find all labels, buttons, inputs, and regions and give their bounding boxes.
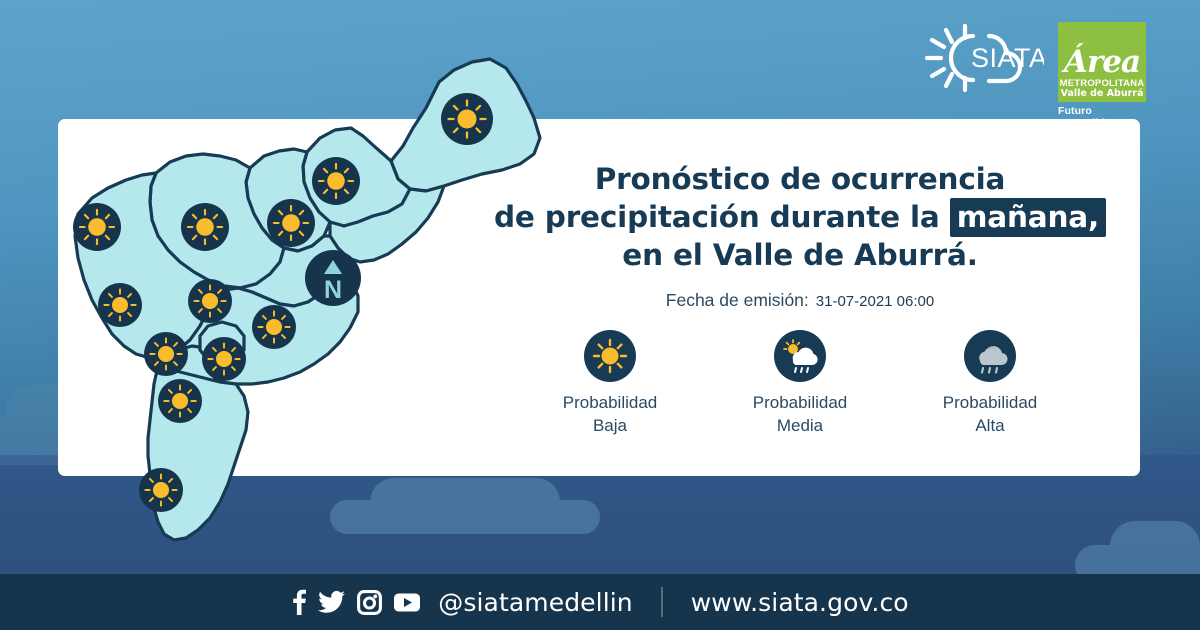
map-marker-sun	[181, 203, 229, 251]
youtube-icon[interactable]	[393, 592, 421, 613]
issue-date-label: Fecha de emisión:	[666, 290, 809, 311]
instagram-icon[interactable]	[357, 590, 382, 615]
siata-logo: SIATA	[919, 22, 1044, 94]
map-marker-sun	[98, 283, 142, 327]
footer-divider	[661, 587, 663, 617]
legend-label-media: Probabilidad Media	[753, 392, 848, 437]
title-line-2: de precipitación durante la mañana,	[470, 198, 1130, 236]
map-marker-sun	[73, 203, 121, 251]
map-marker-sun	[139, 468, 183, 512]
footer-bar: @siatamedellin www.siata.gov.co	[0, 574, 1200, 630]
siata-logo-icon: SIATA	[919, 22, 1044, 94]
map-marker-sun	[252, 305, 296, 349]
title-line-3: en el Valle de Aburrá.	[470, 236, 1130, 274]
legend-label-alta: Probabilidad Alta	[943, 392, 1038, 437]
legend-item-alta: Probabilidad Alta	[895, 330, 1085, 437]
legend-alta-line2: Alta	[943, 415, 1038, 438]
rain-cloud-icon	[964, 330, 1016, 382]
title-line-2-text: de precipitación durante la	[494, 200, 940, 234]
social-handle[interactable]: @siatamedellin	[438, 588, 632, 617]
siata-logo-text: SIATA	[971, 43, 1044, 73]
social-icon-group	[291, 588, 421, 616]
map-marker-sun	[267, 199, 315, 247]
map-marker-sun	[158, 379, 202, 423]
legend-media-line2: Media	[753, 415, 848, 438]
legend-item-baja: Probabilidad Baja	[515, 330, 705, 437]
website-url[interactable]: www.siata.gov.co	[691, 588, 909, 617]
sun-icon	[584, 330, 636, 382]
title-line-1: Pronóstico de ocurrencia	[470, 160, 1130, 198]
logo-group: SIATA Área METROPOLITANA Valle de Aburrá…	[919, 22, 1146, 129]
map-marker-sun	[188, 279, 232, 323]
map-marker-sun	[202, 337, 246, 381]
map-marker-sun	[441, 93, 493, 145]
issue-date-value: 31-07-2021 06:00	[816, 293, 934, 310]
map-marker-sun	[312, 157, 360, 205]
legend-media-line1: Probabilidad	[753, 392, 848, 415]
legend-item-media: Probabilidad Media	[705, 330, 895, 437]
area-script-text: Área	[1064, 48, 1140, 77]
infographic-root: SIATA Área METROPOLITANA Valle de Aburrá…	[0, 0, 1200, 630]
legend-baja-line2: Baja	[563, 415, 658, 438]
facebook-icon[interactable]	[291, 588, 307, 616]
issue-date: Fecha de emisión: 31-07-2021 06:00	[470, 290, 1130, 311]
area-metropolitana-green-box: Área METROPOLITANA Valle de Aburrá	[1058, 22, 1146, 102]
title-highlight-manana: mañana,	[950, 198, 1106, 237]
sun-cloud-rain-icon	[774, 330, 826, 382]
page-title: Pronóstico de ocurrencia de precipitació…	[470, 160, 1130, 274]
legend-baja-line1: Probabilidad	[563, 392, 658, 415]
compass-rose: N	[305, 250, 361, 306]
compass-label: N	[324, 276, 342, 304]
legend-label-baja: Probabilidad Baja	[563, 392, 658, 437]
map-marker-sun	[144, 332, 188, 376]
probability-legend: Probabilidad Baja	[470, 330, 1130, 437]
forecast-text-block: Pronóstico de ocurrencia de precipitació…	[470, 160, 1130, 311]
area-metropolitana-logo: Área METROPOLITANA Valle de Aburrá Futur…	[1058, 22, 1146, 129]
area-metropolitana-line2: Valle de Aburrá	[1061, 89, 1144, 100]
legend-alta-line1: Probabilidad	[943, 392, 1038, 415]
twitter-icon[interactable]	[318, 590, 346, 614]
